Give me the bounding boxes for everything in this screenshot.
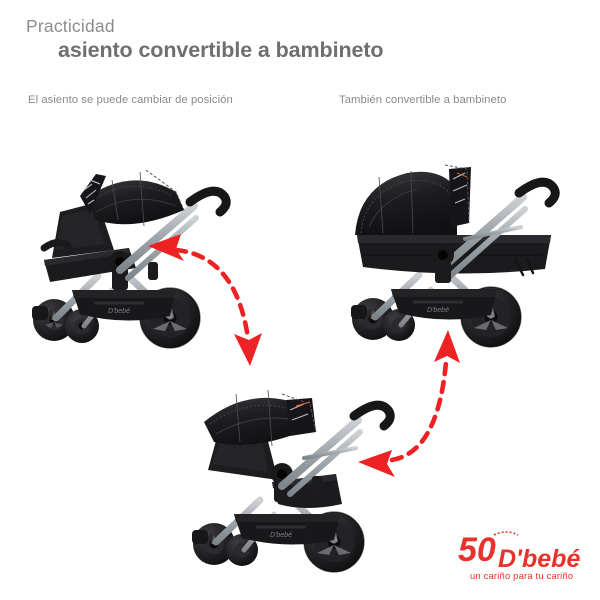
brand-logo: 50 D'bebé un cariño para tu cariño [458,527,590,583]
frame-bracket [312,476,322,494]
heading-block: Practicidad asiento convertible a bambin… [26,16,566,63]
caption-left: El asiento se puede cambiar de posición [28,94,233,106]
bassinet-hood [355,171,457,235]
infographic-page: Practicidad asiento convertible a bambin… [0,0,600,600]
page-title: asiento convertible a bambineto [58,38,566,64]
page-kicker: Practicidad [26,16,566,37]
svg-text:D'bebé: D'bebé [270,532,292,539]
stroller-seat-upright: D'bebé [186,362,401,577]
frame-bracket [148,262,158,280]
brake-pedal [192,530,208,544]
canopy-print-panel [286,398,316,436]
logo-anniversary: 50 [458,531,496,569]
logo-tagline: un cariño para tu cariño [470,570,573,581]
svg-text:D'bebé: D'bebé [108,308,130,315]
seat-hinge [432,244,454,283]
logo-laurel-arc [494,532,518,535]
svg-text:D'bebé: D'bebé [427,307,449,314]
brake-pedal [351,305,367,319]
brake-pedal [32,306,48,320]
caption-right: También convertible a bambineto [339,94,506,106]
stroller-bassinet: D'bebé [345,143,570,353]
logo-brand: D'bebé [498,545,580,573]
stroller-seat-rear-facing: D'bebé [24,140,239,355]
